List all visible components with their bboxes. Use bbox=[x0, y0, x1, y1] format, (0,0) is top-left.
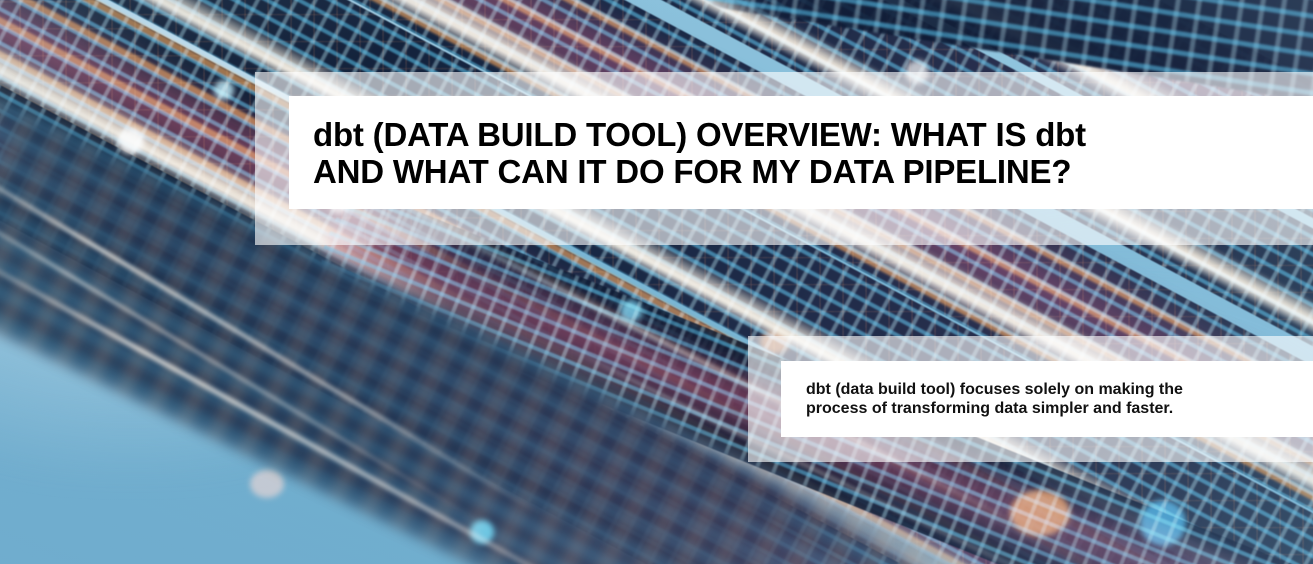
bokeh-dot-9 bbox=[250, 470, 284, 498]
bokeh-dot-4 bbox=[620, 300, 642, 322]
bokeh-dot-6 bbox=[1140, 500, 1186, 546]
headline-line-2: AND WHAT CAN IT DO FOR MY DATA PIPELINE? bbox=[313, 153, 1071, 190]
bokeh-dot-1 bbox=[118, 128, 144, 154]
bokeh-dot-2 bbox=[214, 80, 234, 100]
subtitle-line-1: dbt (data build tool) focuses solely on … bbox=[806, 381, 1183, 398]
subtitle-text: dbt (data build tool) focuses solely on … bbox=[781, 380, 1183, 418]
bokeh-dot-7 bbox=[1010, 490, 1070, 536]
headline-line-1: dbt (DATA BUILD TOOL) OVERVIEW: WHAT IS … bbox=[313, 116, 1086, 153]
page-title: dbt (DATA BUILD TOOL) OVERVIEW: WHAT IS … bbox=[289, 116, 1086, 190]
subtitle-card: dbt (data build tool) focuses solely on … bbox=[781, 361, 1313, 437]
banner: dbt (DATA BUILD TOOL) OVERVIEW: WHAT IS … bbox=[0, 0, 1313, 564]
subtitle-line-2: process of transforming data simpler and… bbox=[806, 400, 1173, 417]
bokeh-dot-10 bbox=[470, 520, 494, 544]
headline-card: dbt (DATA BUILD TOOL) OVERVIEW: WHAT IS … bbox=[289, 96, 1313, 209]
